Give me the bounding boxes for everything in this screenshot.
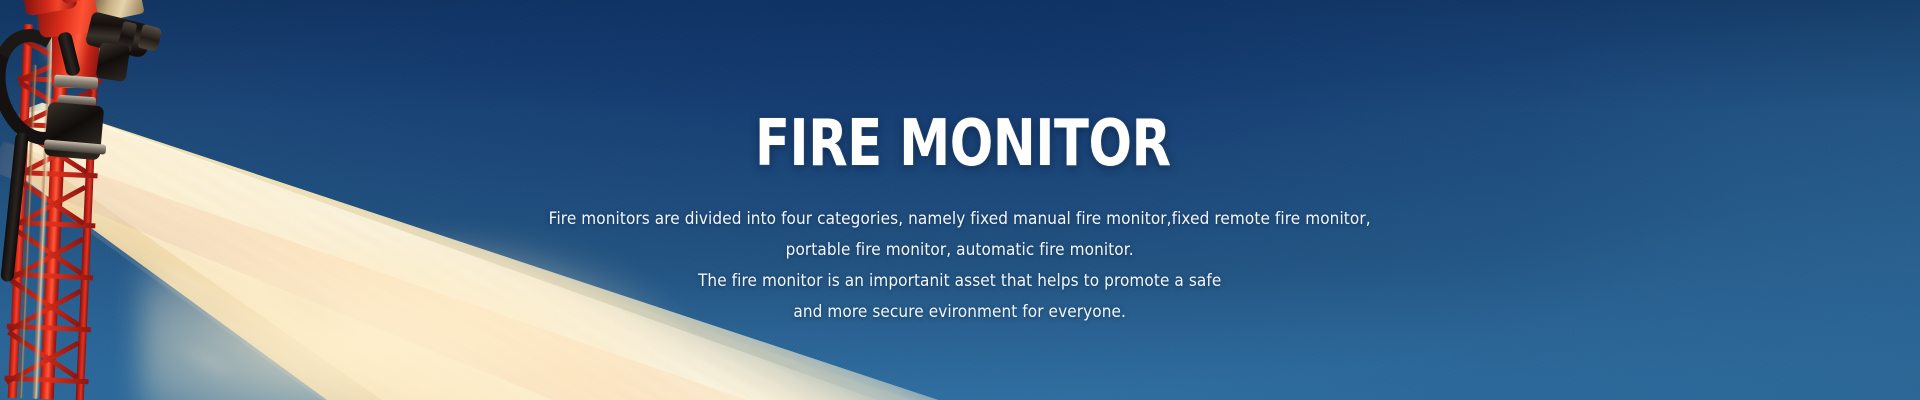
description-line-4: and more secure evironment for everyone.	[549, 297, 1371, 328]
page-title: FIRE MONITOR	[755, 112, 1171, 176]
description-line-2: portable fire monitor, automatic fire mo…	[549, 235, 1371, 266]
description-line-3: The fire monitor is an importanit asset …	[549, 266, 1371, 297]
description-line-1: Fire monitors are divided into four cate…	[549, 204, 1371, 235]
fire-monitor-banner: FIRE MONITOR Fire monitors are divided i…	[0, 0, 1920, 400]
banner-content: FIRE MONITOR Fire monitors are divided i…	[0, 0, 1920, 400]
banner-description: Fire monitors are divided into four cate…	[503, 204, 1416, 328]
